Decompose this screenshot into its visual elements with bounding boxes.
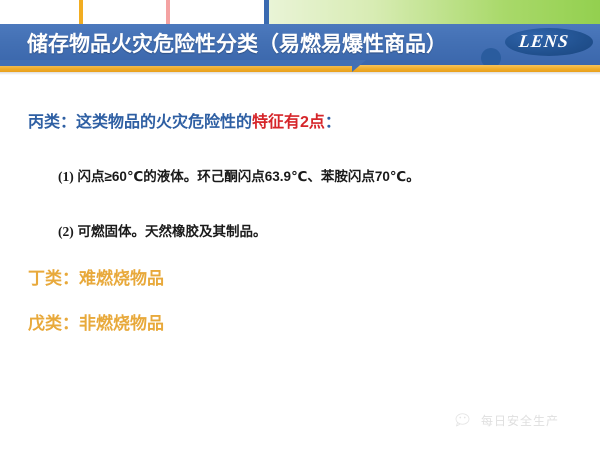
category-c-suffix: ： (325, 114, 341, 131)
top-strip-white-block (0, 0, 268, 24)
blue-tick (264, 0, 269, 24)
list-item-text: 闪点≥60℃的液体。环己酮闪点63.9℃、苯胺闪点70℃。 (78, 169, 420, 184)
page-title: 储存物品火灾危险性分类（易燃易爆性商品） (27, 30, 447, 60)
watermark-text: 每日安全生产 (481, 412, 559, 429)
category-c-highlight: 特征有2点 (252, 114, 325, 131)
category-e-heading: 戊类：非燃烧物品 (28, 312, 164, 336)
list-item-number: (1) (58, 169, 74, 184)
lens-logo-text: LENS (518, 31, 570, 52)
category-c-heading: 丙类：这类物品的火灾危险性的特征有2点： (28, 112, 341, 134)
pink-tick (166, 0, 170, 24)
wechat-icon (455, 412, 475, 429)
orange-tick (79, 0, 83, 24)
list-item-text: 可燃固体。天然橡胶及其制品。 (78, 224, 267, 239)
slide-canvas: 储存物品火灾危险性分类（易燃易爆性商品） LENS 丙类：这类物品的火灾危险性的… (0, 0, 600, 450)
category-d-heading: 丁类：难燃烧物品 (28, 267, 164, 291)
category-c-prefix: 丙类：这类物品的火灾危险性的 (28, 114, 252, 131)
list-item: (1) 闪点≥60℃的液体。环己酮闪点63.9℃、苯胺闪点70℃。 (58, 167, 420, 187)
list-item: (2) 可燃固体。天然橡胶及其制品。 (58, 222, 267, 242)
divider-notch (352, 60, 366, 72)
title-bar-bottom-extension (0, 60, 352, 66)
orange-divider-strip (0, 65, 600, 72)
divider-shadow (0, 72, 600, 75)
watermark: 每日安全生产 (455, 412, 559, 429)
list-item-number: (2) (58, 224, 74, 239)
